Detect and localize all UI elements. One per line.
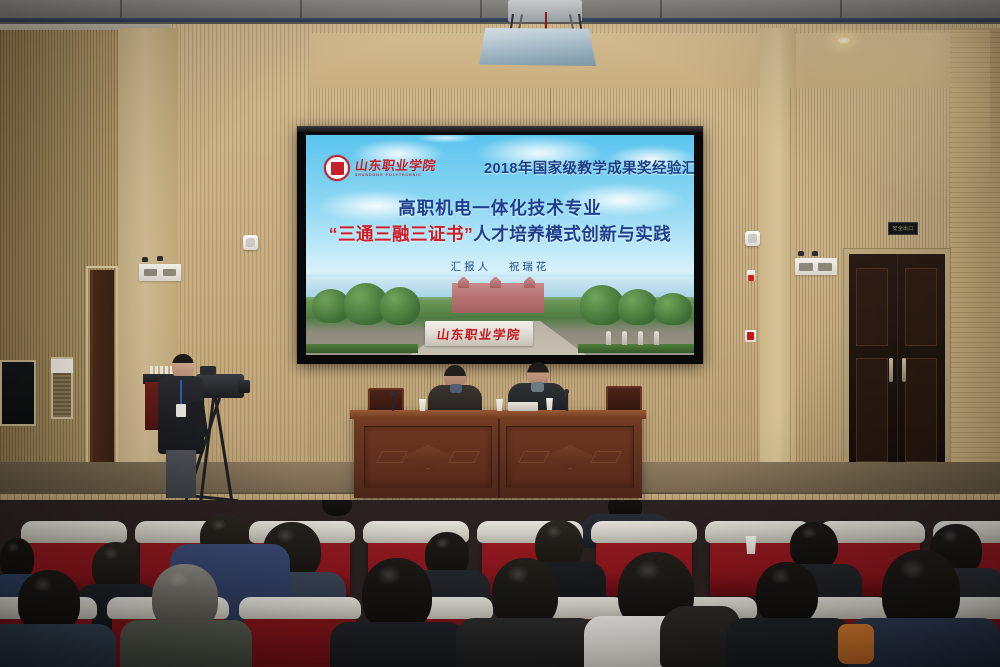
presentation-slide[interactable]: 山东职业学院 SHANDONG POLYTECHNIC 2018年国家级教学成果…: [306, 135, 694, 355]
right-wall-control-plate[interactable]: [795, 258, 837, 275]
audience-head: [362, 558, 432, 632]
led-screen-bezel: 山东职业学院 SHANDONG POLYTECHNIC 2018年国家级教学成果…: [297, 126, 703, 364]
wall-speaker-icon: [745, 231, 760, 246]
logo-english-name: SHANDONG POLYTECHNIC: [355, 174, 436, 177]
left-wall-spot-icon: [157, 256, 163, 261]
seal-icon: [324, 155, 350, 181]
acoustic-reflector-panel: [478, 28, 596, 66]
stage-wall-upper-panel: [310, 33, 950, 88]
logo-chinese-name: 山东职业学院: [354, 159, 437, 172]
downlight-icon: [836, 36, 852, 45]
id-badge: [176, 404, 186, 417]
camera-lens-icon: [238, 380, 250, 393]
campus-building: [452, 283, 544, 313]
slide-title-line1: 高职机电一体化技术专业: [306, 195, 694, 220]
audience-area: [0, 500, 1000, 667]
fire-strobe-icon: [745, 330, 756, 342]
slide-presenter-line: 汇报人 祝瑞花: [306, 259, 694, 274]
control-room-window: [0, 360, 36, 426]
desk-nameplate: [508, 402, 538, 411]
left-wall-control-plate[interactable]: [139, 264, 181, 281]
audience-shoulders: [456, 618, 598, 667]
microphone-stem: [392, 394, 394, 411]
audience-shoulders: [0, 624, 116, 667]
orange-collar: [838, 624, 874, 664]
presenter-label: 汇报人: [451, 261, 492, 273]
slide-title-line2: “三通三融三证书”人才培养模式创新与实践: [306, 221, 694, 246]
campus-gate-photo: 山东职业学院: [306, 277, 694, 355]
slide-title-quoted: “三通三融三证书”: [329, 224, 474, 244]
presenter-name: 祝瑞花: [509, 261, 550, 273]
audience-shoulders: [330, 622, 466, 667]
left-door[interactable]: [90, 270, 114, 485]
exit-sign: 安全出口: [888, 222, 918, 235]
audience-shoulders: [726, 618, 852, 667]
right-wall-spot-icon: [812, 251, 818, 256]
campus-monument: 山东职业学院: [425, 321, 533, 346]
cameraman-legs: [166, 450, 196, 498]
audience-shoulders: [120, 620, 252, 667]
slide-header-text: 2018年国家级教学成果奖经验汇报: [484, 157, 694, 178]
right-side-wall: [950, 28, 1000, 483]
camera-viewfinder: [200, 366, 216, 375]
left-wall-spot-icon: [142, 257, 148, 262]
slide-title-rest: 人才培养模式创新与实践: [473, 224, 671, 244]
right-wall-spot-icon: [798, 251, 804, 256]
auditorium-scene: 安全出口 山东职业学院: [0, 0, 1000, 667]
microphone-icon: [390, 391, 395, 396]
lanyard: [180, 380, 182, 406]
audience-head: [322, 500, 352, 516]
exit-sign-label: 安全出口: [892, 225, 913, 232]
audience-head: [756, 562, 818, 626]
vent-label-plate: [51, 359, 73, 373]
right-double-doors[interactable]: [849, 254, 945, 480]
institution-logo: 山东职业学院 SHANDONG POLYTECHNIC: [324, 155, 436, 181]
screen-glare: [416, 135, 476, 143]
microphone-icon: [564, 389, 569, 394]
microphone-stem: [566, 392, 568, 411]
wall-speaker-icon: [243, 235, 258, 250]
podium-table: [354, 410, 642, 498]
fire-alarm-icon: [747, 270, 755, 281]
monument-text: 山东职业学院: [436, 324, 522, 343]
